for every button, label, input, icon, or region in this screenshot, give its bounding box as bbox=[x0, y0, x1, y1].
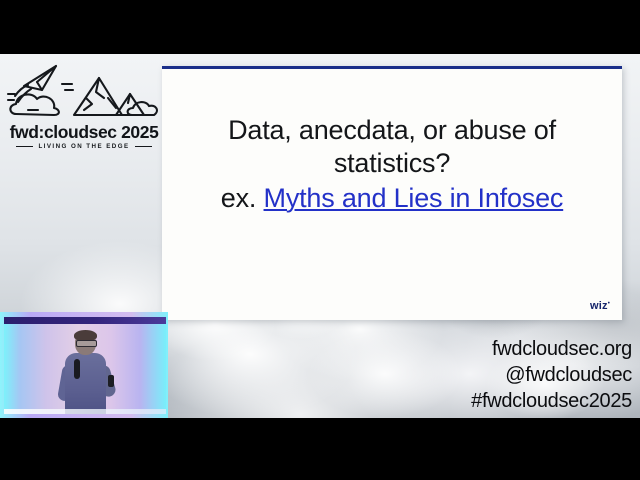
slide-link-prefix: ex. bbox=[221, 183, 264, 213]
logo-wordmark: fwd:cloudsec 2025 bbox=[4, 122, 164, 143]
slide-top-rule bbox=[162, 66, 622, 69]
stage-lower-band bbox=[4, 409, 166, 414]
slide-example-line: ex. Myths and Lies in Infosec bbox=[176, 182, 608, 215]
letterbox-bar-top bbox=[0, 0, 640, 54]
presenter-figure bbox=[58, 331, 114, 414]
presentation-slide: Data, anecdata, or abuse of statistics? … bbox=[162, 66, 622, 320]
slide-line-2: statistics? bbox=[176, 147, 608, 180]
letterbox-bar-bottom bbox=[0, 418, 640, 480]
livestream-stage: fwd:cloudsec 2025 LIVING ON THE EDGE Dat… bbox=[0, 0, 640, 480]
microphone-icon bbox=[74, 359, 80, 379]
wiz-sponsor-logo-text: wiz bbox=[590, 300, 608, 312]
speaker-webcam-inset[interactable] bbox=[0, 312, 168, 418]
presenter-glasses bbox=[76, 340, 97, 347]
wiz-sponsor-logo-mark: • bbox=[608, 300, 610, 306]
speaker-stage-backdrop bbox=[4, 317, 166, 414]
slide-line-1: Data, anecdata, or abuse of bbox=[176, 114, 608, 147]
slide-hyperlink[interactable]: Myths and Lies in Infosec bbox=[264, 183, 564, 213]
wiz-sponsor-logo: wiz• bbox=[590, 300, 610, 312]
social-handle: @fwdcloudsec bbox=[471, 362, 632, 388]
social-branding-overlay: fwdcloudsec.org @fwdcloudsec #fwdcloudse… bbox=[471, 336, 632, 414]
logo-tagline-row: LIVING ON THE EDGE bbox=[4, 143, 164, 150]
stage-upper-band bbox=[4, 317, 166, 324]
conference-logo: fwd:cloudsec 2025 LIVING ON THE EDGE bbox=[4, 58, 164, 158]
presentation-clicker bbox=[108, 375, 114, 387]
website-url: fwdcloudsec.org bbox=[471, 336, 632, 362]
cloud-icon bbox=[10, 94, 59, 115]
slide-body: Data, anecdata, or abuse of statistics? … bbox=[162, 114, 622, 215]
presenter-torso bbox=[65, 353, 106, 414]
logo-artwork bbox=[4, 58, 164, 126]
tagline-rule-left bbox=[16, 146, 33, 148]
logo-tagline: LIVING ON THE EDGE bbox=[38, 143, 129, 150]
event-hashtag: #fwdcloudsec2025 bbox=[471, 388, 632, 414]
tagline-rule-right bbox=[135, 146, 152, 148]
